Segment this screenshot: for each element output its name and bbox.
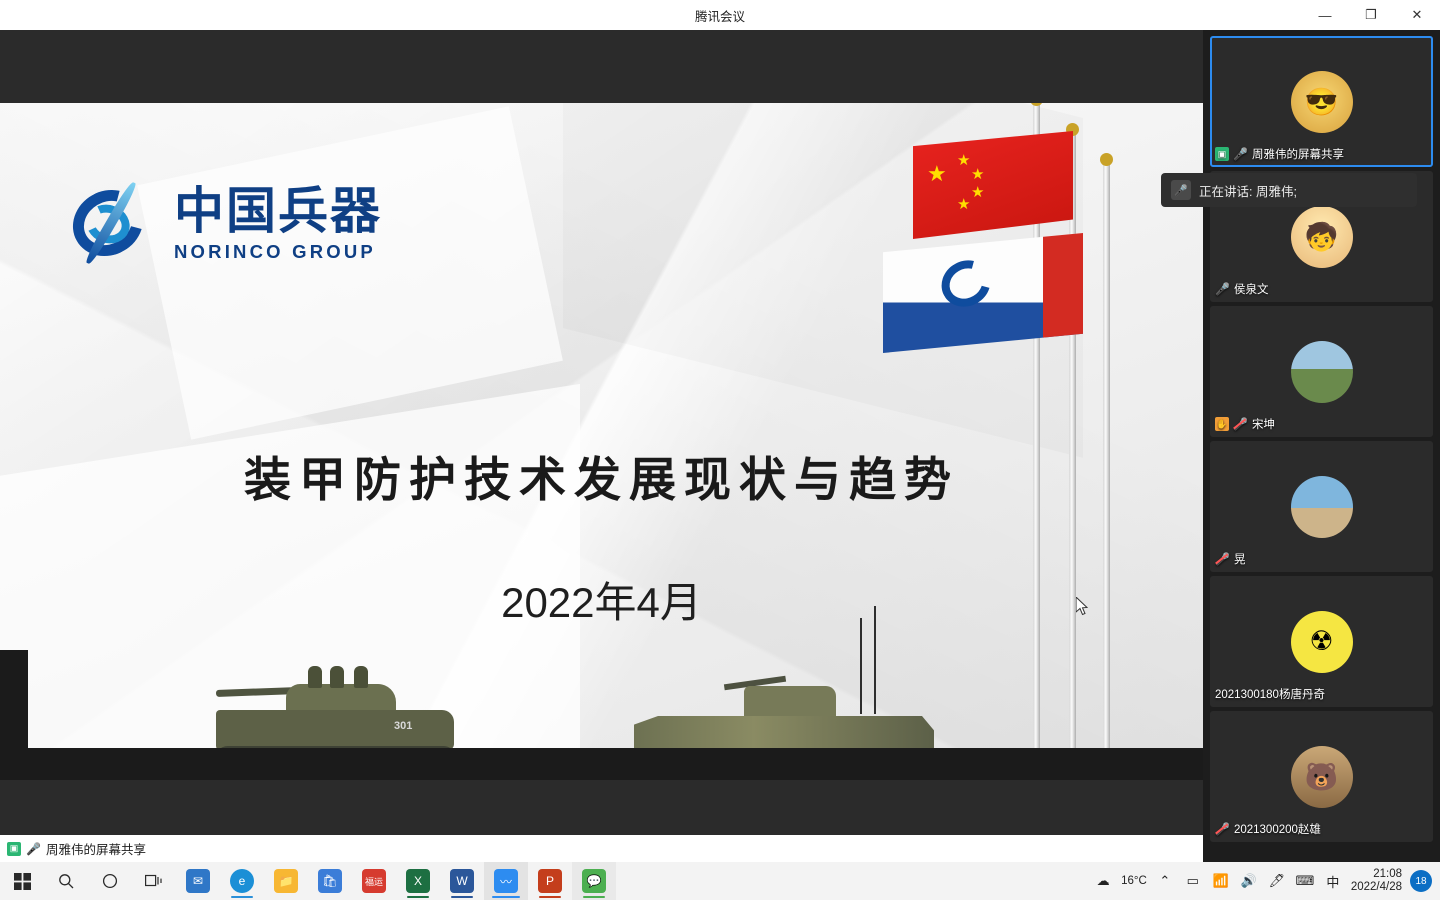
logo-chinese-name: 中国兵器 (174, 186, 382, 236)
avatar (1291, 341, 1353, 403)
participant-tile-3[interactable]: 🎤 晃 (1210, 441, 1433, 572)
screen-share-status-bar[interactable]: ▣ 🎤 周雅伟的屏幕共享 (0, 835, 1203, 862)
windows-start-icon (14, 873, 31, 890)
slide-subtitle: 2022年4月 (0, 569, 1203, 630)
share-bar-label: 周雅伟的屏幕共享 (46, 839, 146, 858)
battery-icon[interactable]: ▭ (1183, 869, 1203, 893)
taskbar-app-wechat[interactable]: 💬 (572, 862, 616, 900)
meeting-app-window: 腾讯会议 — ❐ ✕ 中国兵器 NORINCO GROUP (0, 0, 1440, 900)
china-flag-icon: ★ ★ ★ ★ ★ (913, 131, 1073, 239)
mic-off-icon: 🎤 (1215, 822, 1230, 836)
participant-label: 🎤 侯泉文 (1215, 281, 1268, 297)
cloud-icon: ☁ (1093, 869, 1113, 893)
tank-hull-number: 301 (394, 720, 412, 732)
start-button[interactable] (0, 862, 44, 900)
cortana-circle-icon (102, 873, 118, 889)
search-button[interactable] (44, 862, 88, 900)
participant-name: 宋坤 (1252, 416, 1275, 432)
company-flag-icon (883, 233, 1083, 353)
shared-screen-stage[interactable]: 中国兵器 NORINCO GROUP ★ ★ ★ ★ ★ (0, 30, 1203, 835)
speaking-toast-text: 正在讲话: 周雅伟; (1199, 181, 1297, 200)
window-title: 腾讯会议 (695, 6, 745, 25)
pen-icon[interactable]: 🖊 (1267, 869, 1287, 893)
participant-name: 2021300180杨唐丹奇 (1215, 686, 1325, 702)
taskbar-app-file-explorer[interactable]: 📁 (264, 862, 308, 900)
participant-name: 侯泉文 (1234, 281, 1269, 297)
avatar: 🧒 (1291, 206, 1353, 268)
slide-title: 装甲防护技术发展现状与趋势 (0, 441, 1203, 510)
participant-tile-4[interactable]: ☢ 2021300180杨唐丹奇 (1210, 576, 1433, 707)
participant-name: 周雅伟的屏幕共享 (1252, 146, 1344, 162)
norinco-logo-text: 中国兵器 NORINCO GROUP (174, 186, 382, 263)
task-view-button[interactable] (132, 862, 176, 900)
avatar: ☢ (1291, 611, 1353, 673)
task-view-icon (145, 874, 163, 888)
maximize-button[interactable]: ❐ (1348, 0, 1394, 30)
participant-label: 🎤 2021300200赵雄 (1215, 821, 1321, 837)
logo-english-name: NORINCO GROUP (174, 241, 382, 263)
clock[interactable]: 21:08 2022/4/28 (1351, 868, 1402, 894)
avatar: 🐻 (1291, 746, 1353, 808)
raise-hand-icon: ✋ (1215, 417, 1229, 431)
participant-label: ▣ 🎤 周雅伟的屏幕共享 (1215, 146, 1344, 162)
mic-off-icon: 🎤 (1215, 552, 1230, 566)
title-bar: 腾讯会议 — ❐ ✕ (0, 0, 1440, 30)
participant-tile-0[interactable]: 😎 ▣ 🎤 周雅伟的屏幕共享 (1210, 36, 1433, 167)
ime-indicator[interactable]: 中 (1323, 869, 1343, 893)
window-controls: — ❐ ✕ (1302, 0, 1440, 30)
notification-badge[interactable]: 18 (1410, 870, 1432, 892)
participant-tile-5[interactable]: 🐻 🎤 2021300200赵雄 (1210, 711, 1433, 842)
participant-label: 2021300180杨唐丹奇 (1215, 686, 1325, 702)
flags-graphic: ★ ★ ★ ★ ★ (903, 103, 1203, 763)
close-button[interactable]: ✕ (1394, 0, 1440, 30)
chevron-up-icon[interactable]: ⌃ (1155, 869, 1175, 893)
keyboard-icon[interactable]: ⌨ (1295, 869, 1315, 893)
speaking-toast: 🎤 正在讲话: 周雅伟; (1161, 173, 1417, 207)
taskbar-app-microsoft-store[interactable]: 🛍 (308, 862, 352, 900)
wifi-icon[interactable]: 📶 (1211, 869, 1231, 893)
mic-icon: 🎤 (1215, 282, 1230, 296)
avatar (1291, 476, 1353, 538)
norinco-logo: 中国兵器 NORINCO GROUP (64, 181, 382, 267)
participant-tile-2[interactable]: ✋ 🎤 宋坤 (1210, 306, 1433, 437)
taskbar-left-group: ✉ e 📁 🛍 福运 X W 〰 (0, 862, 616, 900)
slide-bottom-bar (0, 748, 1203, 780)
taskbar-app-excel[interactable]: X (396, 862, 440, 900)
weather-temperature[interactable]: 16°C (1121, 875, 1147, 887)
cortana-button[interactable] (88, 862, 132, 900)
slide-left-bar (0, 650, 28, 780)
screen-share-icon: ▣ (7, 842, 21, 856)
avatar: 😎 (1291, 71, 1353, 133)
clock-time: 21:08 (1351, 868, 1402, 881)
participant-name: 晃 (1234, 551, 1246, 567)
taskbar-app-mail[interactable]: ✉ (176, 862, 220, 900)
windows-taskbar[interactable]: ✉ e 📁 🛍 福运 X W 〰 (0, 862, 1440, 900)
taskbar-app-fuyun[interactable]: 福运 (352, 862, 396, 900)
search-icon (58, 873, 74, 889)
taskbar-app-word[interactable]: W (440, 862, 484, 900)
presentation-slide: 中国兵器 NORINCO GROUP ★ ★ ★ ★ ★ (0, 103, 1203, 780)
mic-off-icon: 🎤 (1233, 417, 1248, 431)
participant-name: 2021300200赵雄 (1234, 821, 1321, 837)
screen-share-icon: ▣ (1215, 147, 1229, 161)
participant-rail[interactable]: 😎 ▣ 🎤 周雅伟的屏幕共享 🧒 🎤 侯泉文 ✋ 🎤 宋坤 (1203, 30, 1440, 862)
speaker-icon[interactable]: 🔊 (1239, 869, 1259, 893)
taskbar-app-tencent-meeting[interactable]: 〰 (484, 862, 528, 900)
system-tray: ☁ 16°C ⌃ ▭ 📶 🔊 🖊 ⌨ 中 21:08 2022/4/28 18 (1093, 868, 1440, 894)
mic-icon: 🎤 (1171, 180, 1191, 200)
taskbar-app-powerpoint[interactable]: P (528, 862, 572, 900)
taskbar-app-edge[interactable]: e (220, 862, 264, 900)
norinco-logo-icon (64, 181, 174, 267)
participant-label: 🎤 晃 (1215, 551, 1245, 567)
clock-date: 2022/4/28 (1351, 881, 1402, 894)
participant-label: ✋ 🎤 宋坤 (1215, 416, 1275, 432)
minimize-button[interactable]: — (1302, 0, 1348, 30)
mic-icon: 🎤 (1233, 147, 1248, 161)
mic-icon: 🎤 (26, 842, 41, 856)
